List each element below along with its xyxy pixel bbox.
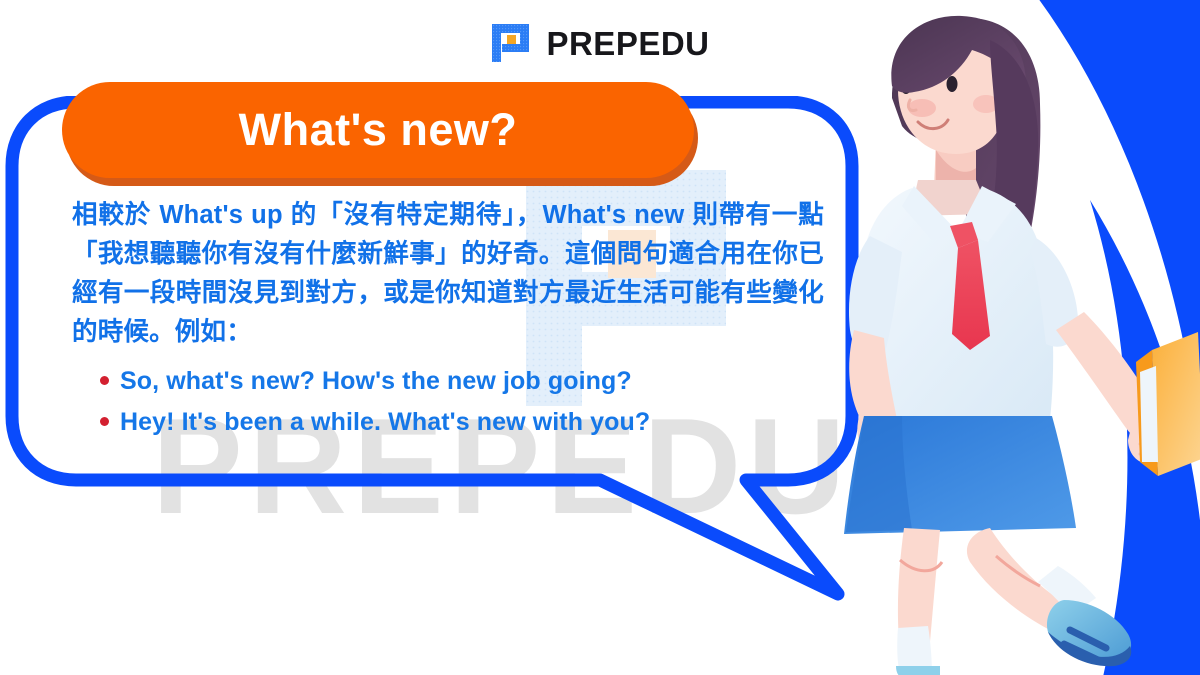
brand-logo: PREPEDU [0,22,1200,66]
example-text: So, what's new? How's the new job going? [120,363,632,399]
list-item: So, what's new? How's the new job going? [100,363,824,399]
student-girl-illustration [840,0,1200,675]
brand-wordmark: PREPEDU [546,25,709,63]
bullet-dot-icon [100,376,109,385]
headline-banner: What's new? [62,82,694,178]
example-list: So, what's new? How's the new job going?… [72,363,824,440]
bubble-content: 相較於 What's up 的「沒有特定期待」，What's new 則帶有一點… [72,196,824,445]
body-paragraph: 相較於 What's up 的「沒有特定期待」，What's new 則帶有一點… [72,196,824,352]
list-item: Hey! It's been a while. What's new with … [100,404,824,440]
prepedu-logo-mark-icon [490,22,534,66]
bullet-dot-icon [100,417,109,426]
example-text: Hey! It's been a while. What's new with … [120,404,650,440]
slide-canvas: PREPEDU [0,0,1200,675]
headline-text: What's new? [239,104,518,156]
